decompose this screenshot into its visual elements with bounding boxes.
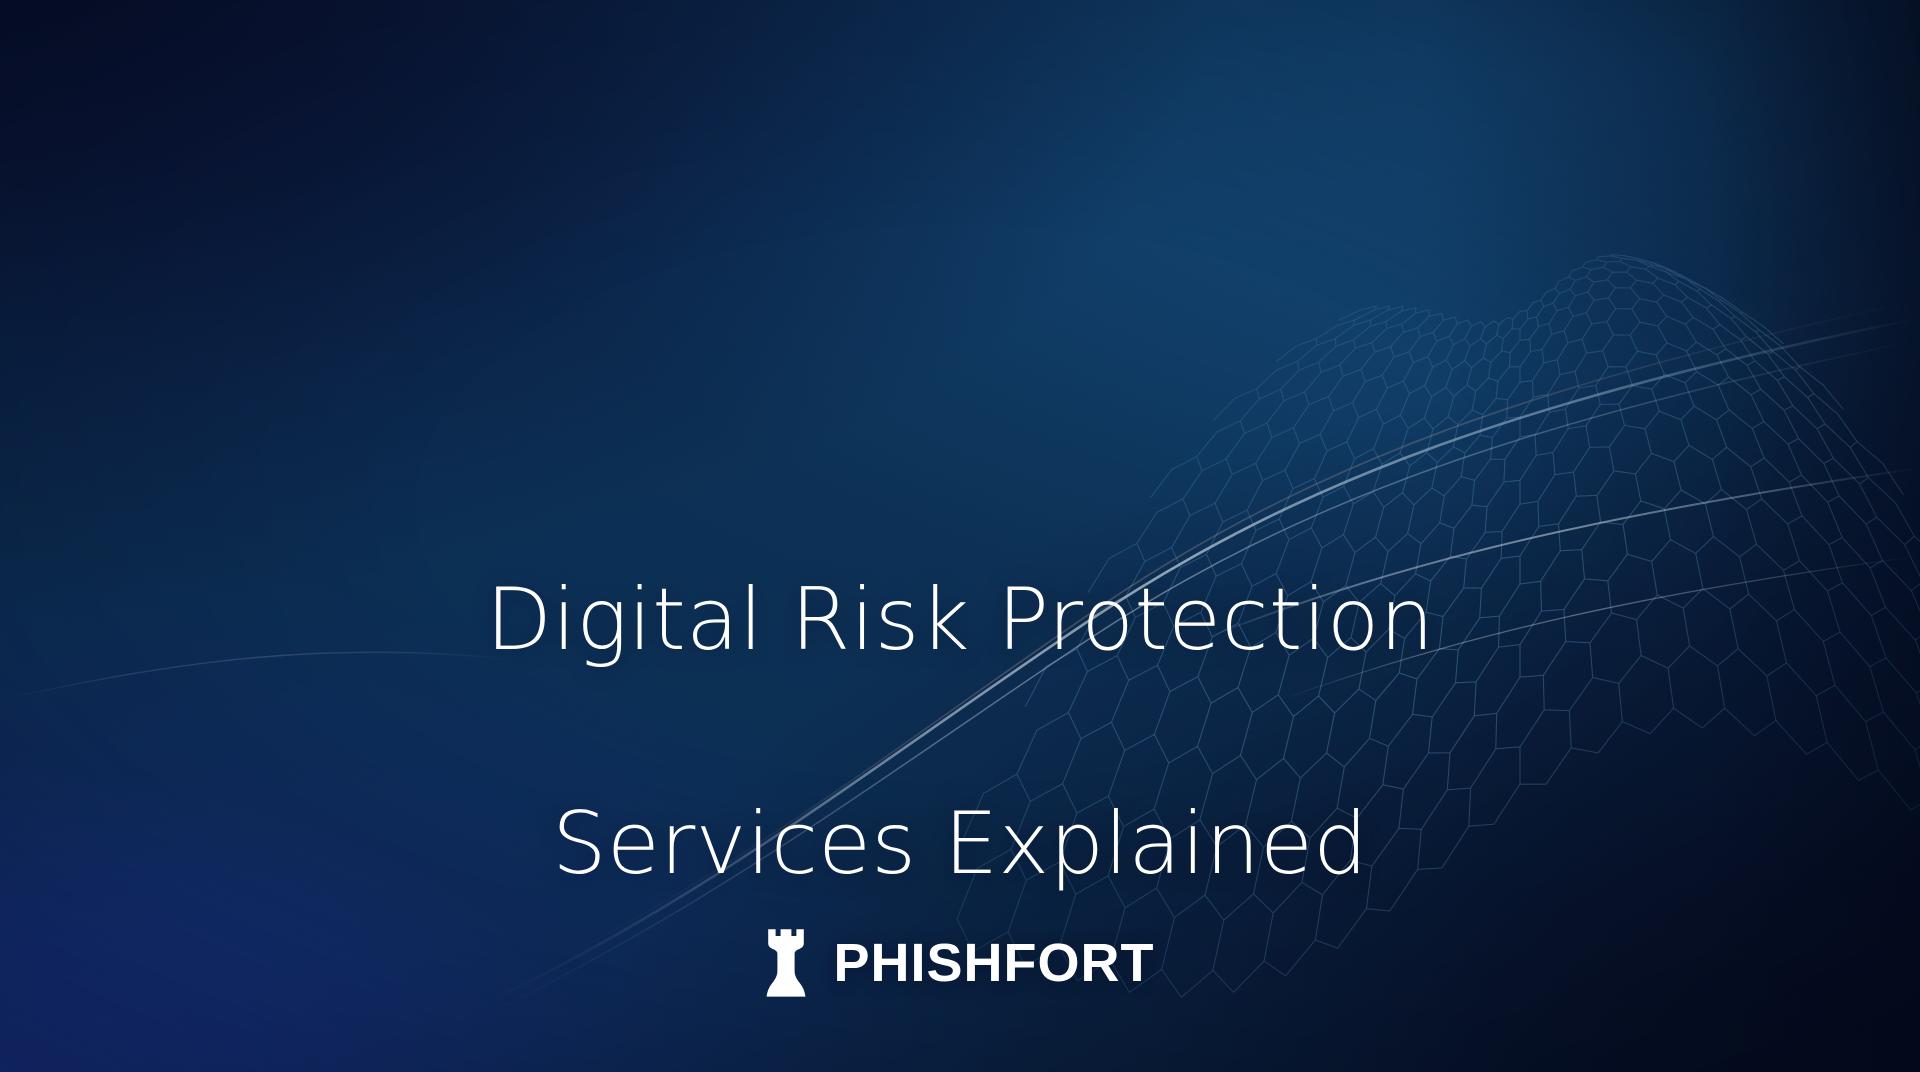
brand-wordmark: PHISHFORT: [833, 936, 1154, 990]
banner-content: Digital Risk Protection Services Explain…: [0, 0, 1920, 1072]
rook-chess-piece-icon: [765, 928, 807, 998]
headline-line-1: Digital Risk Protection: [0, 565, 1920, 677]
hero-banner: Digital Risk Protection Services Explain…: [0, 0, 1920, 1072]
headline-line-2: Services Explained: [0, 789, 1920, 901]
brand-logo-lockup: PHISHFORT: [0, 928, 1920, 998]
